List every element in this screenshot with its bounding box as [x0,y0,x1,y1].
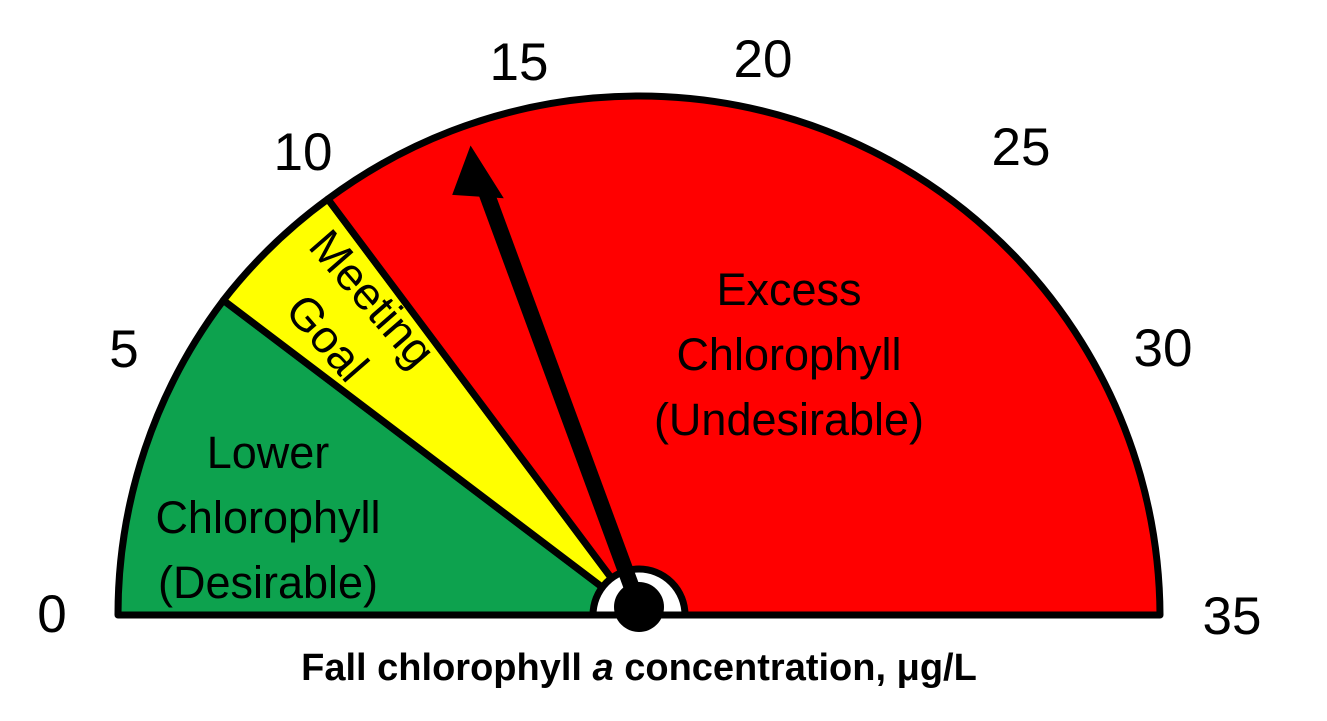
axis-title-post: concentration, μg/L [614,647,977,689]
gauge-needle-pivot [614,582,664,632]
tick-label-15: 15 [490,33,549,92]
tick-label-20: 20 [734,30,793,89]
gauge-figure: 0 5 10 15 20 25 30 35 Lower Chlorophyll … [0,0,1327,721]
tick-label-10: 10 [274,123,333,182]
zone-label-red-line2: Chlorophyll [676,329,901,380]
zone-label-green-line2: Chlorophyll [155,492,380,543]
zone-label-red-line1: Excess [716,264,861,315]
axis-title-pre: Fall chlorophyll [301,647,592,689]
tick-label-5: 5 [109,320,138,379]
tick-label-30: 30 [1134,319,1193,378]
zone-label-green-line3: (Desirable) [158,557,378,608]
zone-label-red-line3: (Undesirable) [654,394,924,445]
gauge-chart-page: 0 5 10 15 20 25 30 35 Lower Chlorophyll … [0,0,1327,721]
zone-label-green-line1: Lower [207,427,330,478]
tick-label-0: 0 [37,585,66,644]
axis-title-italic: a [593,647,614,689]
tick-label-25: 25 [992,118,1051,177]
tick-label-35: 35 [1203,587,1262,646]
axis-title: Fall chlorophyll a concentration, μg/L [301,647,977,689]
